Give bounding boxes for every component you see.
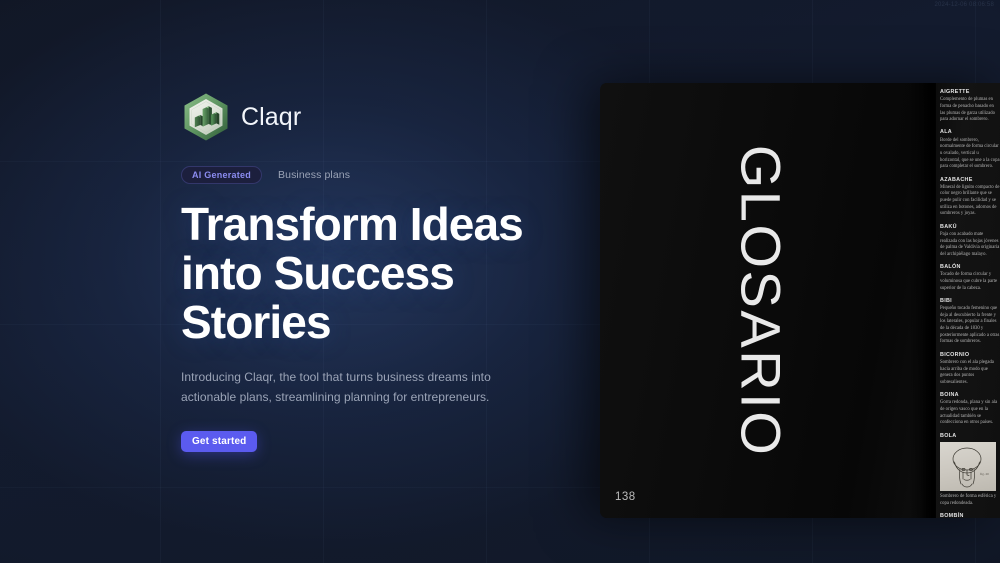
svg-text:fig. 20: fig. 20 [980,472,989,476]
glossary-definition: Tocado de forma circular y voluminosa qu… [940,272,1000,292]
hexagon-bar-chart-logo-icon [181,92,231,142]
glossary-term: AIGRETTE [940,89,1000,96]
glossary-entry: AIGRETTEComplemento de plumas en forma d… [940,89,1000,124]
glossary-definition: Mineral de lignito compacto de color neg… [940,185,1000,218]
glossary-entry: BOINAGorra redonda, plana y sin ala de o… [940,392,1000,427]
glossary-definition: Complemento de plumas en forma de penach… [940,97,1000,124]
glossary-entry: ALABorde del sombrero, normalmente de fo… [940,129,1000,171]
glossary-term: BICORNIO [940,352,1000,359]
glossary-term: BOINA [940,392,1000,399]
glossary-term: BALÓN [940,264,1000,271]
glossary-definition: Gorra redonda, plana y sin ala de origen… [940,400,1000,427]
glossary-entry: BALÓNTocado de forma circular y volumino… [940,264,1000,292]
glossary-definition: Borde del sombrero, normalmente de forma… [940,138,1000,171]
glossary-term: BOLA [940,433,1000,440]
glossary-term: BOMBÍN [940,513,1000,518]
glossary-definition: Paja con acabado mate realizada con las … [940,232,1000,259]
hero-section: Claqr AI Generated Business plans Transf… [181,92,581,452]
glosario-vertical-title: GLOSARIO [733,144,789,457]
screen-timestamp: 2024-12-06 08:06:58 [934,2,994,8]
brand-name: Claqr [241,105,301,130]
glossary-entry: BOLAfig. 20Sombrero de forma esférica y … [940,433,1000,508]
glossary-entry: BOMBÍNSombrero rígido de copa redondeada… [940,513,1000,518]
page-number: 138 [615,491,636,503]
glossary-term: BAKÚ [940,224,1000,231]
book-preview-panel: GLOSARIO 138 AIGRETTEComplemento de plum… [600,83,1000,518]
page-title: Transform Ideas into Success Stories [181,200,526,346]
brand-header[interactable]: Claqr [181,92,581,142]
glossary-entry: BIBIPequeño tocado femenino que deja al … [940,298,1000,346]
glossary-term: AZABACHE [940,177,1000,184]
glossary-entry: AZABACHEMineral de lignito compacto de c… [940,177,1000,219]
hero-subcopy: Introducing Claqr, the tool that turns b… [181,368,501,407]
glossary-definition: Sombrero con el ala plegada hacia arriba… [940,360,1000,387]
glossary-entry: BAKÚPaja con acabado mate realizada con … [940,224,1000,259]
ai-generated-badge: AI Generated [181,166,262,184]
landing-page-root: 2024-12-06 08:06:58 [0,0,1000,563]
hero-meta-row: AI Generated Business plans [181,166,581,184]
category-label: Business plans [278,169,350,181]
glossary-term: ALA [940,129,1000,136]
glossary-entry: BICORNIOSombrero con el ala plegada haci… [940,352,1000,387]
hat-portrait-illustration-icon: fig. 20 [940,442,996,491]
book-right-page: AIGRETTEComplemento de plumas en forma d… [936,83,1000,518]
glossary-term: BIBI [940,298,1000,305]
book-left-page: GLOSARIO 138 [600,83,935,518]
glossary-definition: Pequeño tocado femenino que deja al desc… [940,306,1000,346]
glossary-figure-caption: Sombrero de forma esférica y copa redond… [940,494,1000,507]
get-started-button[interactable]: Get started [181,431,257,452]
